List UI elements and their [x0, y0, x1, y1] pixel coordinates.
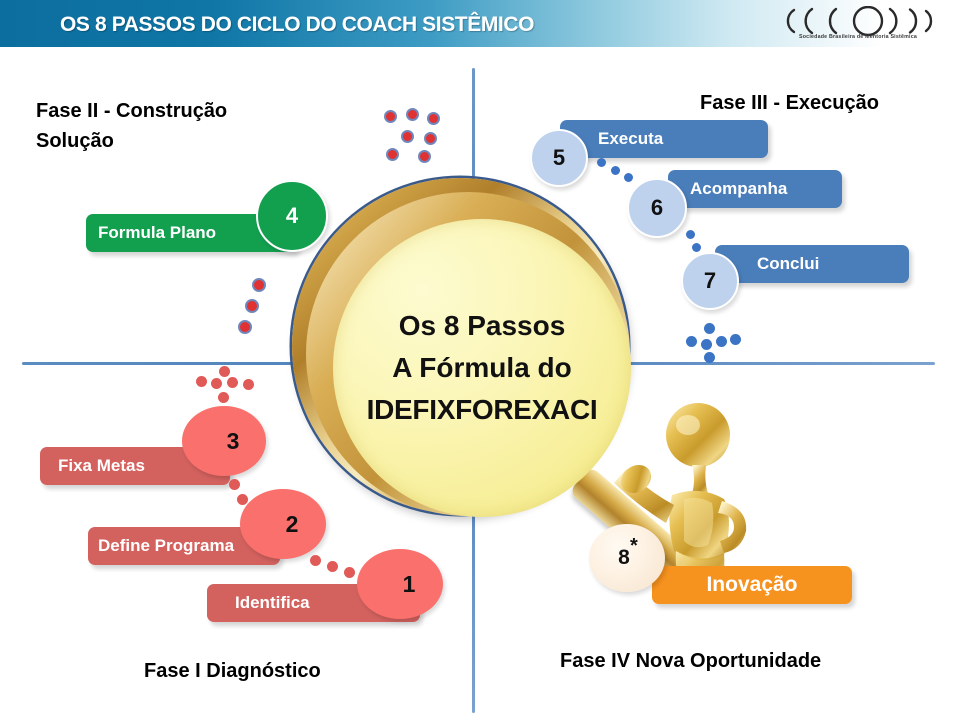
step-label-2: Define Programa	[98, 536, 234, 556]
step-label-3: Fixa Metas	[58, 456, 145, 476]
connector-dot	[310, 555, 321, 566]
decor-dot	[211, 378, 222, 389]
step-bar-inovacao[interactable]: Inovação	[652, 566, 852, 604]
ccod-arcs-logo: Sociedade Brasileira de Mentoria Sistêmi…	[774, 6, 942, 46]
connector-dot	[692, 243, 701, 252]
decor-dot	[424, 132, 437, 145]
phase-label-construcao: Fase II - Construção Solução	[36, 96, 227, 156]
decor-dot	[686, 336, 697, 347]
decor-dot	[219, 366, 230, 377]
magnifier-lens: Os 8 Passos A Fórmula do IDEFIXFOREXACI	[333, 219, 631, 517]
page-title: OS 8 PASSOS DO CICLO DO COACH SISTÊMICO	[60, 13, 534, 37]
step-circle-8[interactable]: 8 *	[589, 524, 665, 592]
step-number-7: 7	[704, 268, 716, 294]
connector-dot	[686, 230, 695, 239]
decor-dot	[227, 377, 238, 388]
connector-dot	[237, 494, 248, 505]
step-number-2: 2	[286, 511, 299, 538]
step-label-8: Inovação	[706, 573, 797, 597]
decor-dot	[196, 376, 207, 387]
logo-arcs-icon	[774, 6, 942, 36]
step-bar-conclui[interactable]: Conclui	[715, 245, 909, 283]
header-banner: OS 8 PASSOS DO CICLO DO COACH SISTÊMICO …	[0, 0, 960, 47]
decor-dot	[243, 379, 254, 390]
decor-dot	[701, 339, 712, 350]
logo-caption: Sociedade Brasileira de Mentoria Sistêmi…	[772, 34, 943, 40]
step-circle-1[interactable]: 1	[357, 549, 443, 619]
decor-dot	[386, 148, 399, 161]
step-8-asterisk: *	[630, 536, 638, 556]
connector-dot	[344, 567, 355, 578]
decor-dot	[704, 323, 715, 334]
step-circle-3[interactable]: 3	[182, 406, 266, 476]
decor-dot	[401, 130, 414, 143]
phase-label-diagnostico: Fase I Diagnóstico	[144, 656, 321, 686]
step-number-8: 8	[618, 546, 630, 570]
step-number-3: 3	[227, 428, 240, 455]
magnifier-graphic: Os 8 Passos A Fórmula do IDEFIXFOREXACI	[284, 170, 654, 540]
decor-dot	[245, 299, 259, 313]
decor-dot	[252, 278, 266, 292]
step-label-5: Executa	[598, 129, 663, 149]
decor-dot	[704, 352, 715, 363]
step-circle-2[interactable]: 2	[240, 489, 326, 559]
decor-dot	[218, 392, 229, 403]
step-number-1: 1	[403, 571, 416, 598]
phase-label-nova-oportunidade: Fase IV Nova Oportunidade	[560, 646, 821, 676]
decor-dot	[730, 334, 741, 345]
step-label-6: Acompanha	[690, 179, 787, 199]
step-label-4: Formula Plano	[98, 223, 216, 243]
phase-label-execucao: Fase III - Execução	[700, 88, 879, 118]
magnifier-rim-outer: Os 8 Passos A Fórmula do IDEFIXFOREXACI	[292, 178, 628, 514]
step-circle-7[interactable]: 7	[681, 252, 739, 310]
center-line-3: IDEFIXFOREXACI	[367, 389, 598, 431]
center-line-2: A Fórmula do	[392, 347, 571, 389]
decor-dot	[406, 108, 419, 121]
center-line-1: Os 8 Passos	[399, 305, 566, 347]
step-label-1: Identifica	[235, 593, 310, 613]
connector-dot	[327, 561, 338, 572]
slide-canvas: OS 8 PASSOS DO CICLO DO COACH SISTÊMICO …	[0, 0, 960, 720]
connector-dot	[597, 158, 606, 167]
step-bar-executa[interactable]: Executa	[560, 120, 768, 158]
decor-dot	[716, 336, 727, 347]
decor-dot	[238, 320, 252, 334]
step-bar-acompanha[interactable]: Acompanha	[668, 170, 842, 208]
step-number-5: 5	[553, 145, 565, 171]
connector-dot	[229, 479, 240, 490]
decor-dot	[427, 112, 440, 125]
decor-dot	[418, 150, 431, 163]
step-label-7: Conclui	[757, 254, 819, 274]
decor-dot	[384, 110, 397, 123]
magnifier-rim-inner: Os 8 Passos A Fórmula do IDEFIXFOREXACI	[306, 192, 630, 516]
